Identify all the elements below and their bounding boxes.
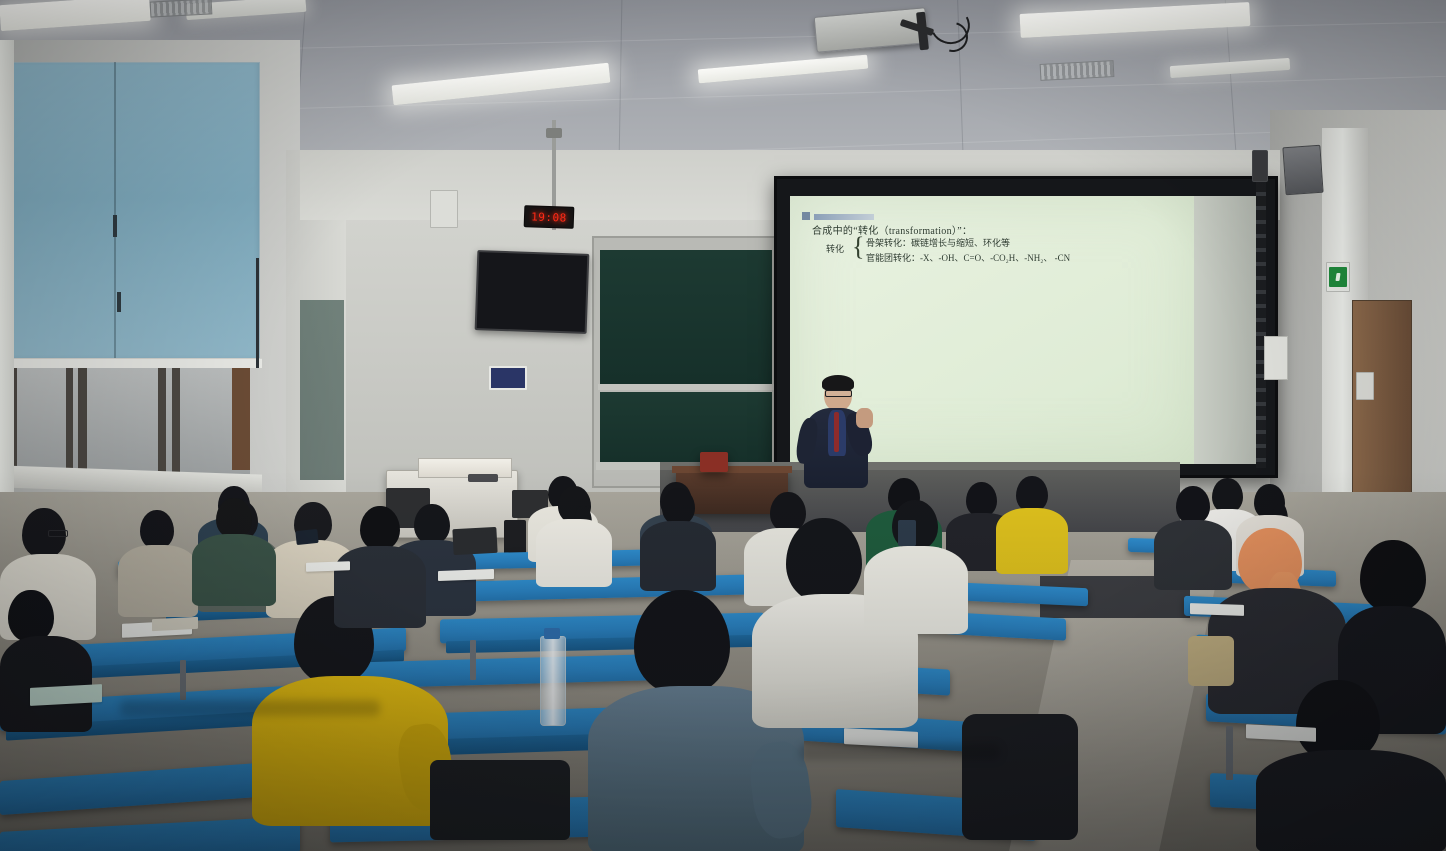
window-mullion	[158, 368, 166, 472]
exit-sign-panel	[1329, 267, 1347, 287]
student-body	[996, 508, 1068, 574]
student-body	[0, 636, 92, 732]
student-center-white2	[864, 500, 970, 630]
student-head	[1360, 540, 1426, 612]
student-body	[864, 546, 968, 634]
student-body	[536, 519, 612, 587]
blind-clip[interactable]	[117, 292, 121, 312]
book[interactable]	[152, 617, 198, 631]
window-mullion	[66, 368, 73, 476]
student-head	[662, 488, 695, 525]
screen-side-margin	[1194, 196, 1256, 464]
slide-line-1: 骨架转化：碳链增长与缩短、环化等	[866, 236, 1010, 249]
paper-sheet[interactable]	[306, 561, 350, 572]
glasses-icon	[825, 390, 852, 397]
student-s10	[996, 476, 1070, 572]
student-head	[140, 510, 174, 549]
phone[interactable]	[898, 520, 916, 546]
wall-bracket	[430, 190, 458, 228]
student-longhair-left	[536, 486, 614, 586]
laptop[interactable]	[452, 527, 497, 555]
student-head	[966, 482, 997, 517]
emergency-exit-sign	[1326, 262, 1350, 292]
wall-speaker-bracket	[1252, 150, 1268, 182]
slide-bullet-icon	[802, 212, 810, 220]
student-right-foreground	[1256, 680, 1446, 851]
wall-monitor[interactable]	[475, 250, 590, 334]
student-head	[8, 590, 54, 642]
blackboard-far-left	[300, 300, 344, 480]
podium-accent	[700, 452, 728, 472]
student-body	[1256, 750, 1446, 851]
blackboard-lower[interactable]	[600, 392, 772, 462]
student-body	[118, 545, 198, 617]
podium-top	[672, 466, 792, 473]
student-body	[640, 521, 716, 591]
wall-poster	[1264, 336, 1288, 380]
window-mullion	[78, 368, 87, 474]
wall-speaker	[1282, 145, 1323, 196]
door-sign	[1356, 372, 1374, 400]
backpack[interactable]	[430, 760, 570, 840]
student-body	[334, 546, 426, 628]
digital-clock: 19:08	[524, 205, 575, 229]
student-head	[786, 518, 862, 602]
student-s02	[0, 590, 92, 730]
student-head	[1176, 486, 1210, 524]
glasses-icon	[48, 530, 68, 537]
student-head	[360, 506, 400, 550]
blind-edge	[256, 258, 259, 368]
student-mid-dark2	[640, 488, 718, 590]
desk-leg	[1226, 726, 1233, 780]
window-blind-left[interactable]	[6, 62, 260, 364]
desk-leg	[180, 660, 186, 700]
desk-leg	[470, 640, 476, 680]
paper-sheet[interactable]	[438, 569, 494, 581]
window-frame-post	[232, 368, 250, 470]
lecture-hall-photo: 合成中的“转化（transformation）”： 转化 { 骨架转化：碳链增长…	[0, 0, 1446, 851]
phone[interactable]	[295, 529, 318, 545]
student-left-mid	[118, 510, 200, 616]
lecturer-tie	[834, 412, 839, 452]
blind-bottom-rail[interactable]	[4, 358, 262, 368]
student-head	[1016, 476, 1048, 512]
lecturer-hand	[856, 408, 873, 428]
slide-line-2: 官能团转化：-X、-OH、C=O、-CO₂H、-NH₂、 -CN	[866, 251, 1070, 264]
student-head	[216, 498, 252, 538]
wall-corner-trim	[0, 40, 14, 510]
desk-shadow	[800, 744, 1000, 760]
blind-clip[interactable]	[113, 215, 117, 237]
student-body	[192, 534, 276, 606]
paper-sheet[interactable]	[1190, 603, 1244, 616]
blackboard-upper[interactable]	[600, 250, 772, 384]
window-mullion	[172, 368, 180, 472]
desk-shadow	[120, 700, 380, 716]
window-glass	[8, 368, 250, 474]
slide-decoration-bar	[814, 214, 874, 220]
bottle-cap[interactable]	[544, 628, 560, 639]
backpack[interactable]	[962, 714, 1078, 840]
screen-cord-stop	[546, 128, 562, 138]
console-cpu	[504, 520, 526, 556]
blackboard-rail	[598, 384, 774, 390]
student-head	[634, 590, 730, 694]
clock-time: 19:08	[531, 210, 567, 224]
lecturer-hair	[822, 375, 854, 391]
screen-frame-perforation	[1256, 182, 1266, 468]
tote-bag[interactable]	[1188, 636, 1234, 686]
console-slot	[468, 474, 498, 482]
blind-seam	[114, 62, 116, 362]
water-bottle[interactable]	[540, 636, 566, 726]
student-left-green	[192, 498, 278, 602]
running-person-icon	[1335, 273, 1340, 281]
slide-title: 合成中的“转化（transformation）”：	[812, 222, 972, 237]
slide-label-left: 转化	[826, 242, 844, 255]
lecturer	[792, 378, 884, 488]
wall-notice-sign	[489, 366, 527, 390]
notebook[interactable]	[30, 684, 102, 706]
slide-brace: {	[852, 234, 864, 260]
